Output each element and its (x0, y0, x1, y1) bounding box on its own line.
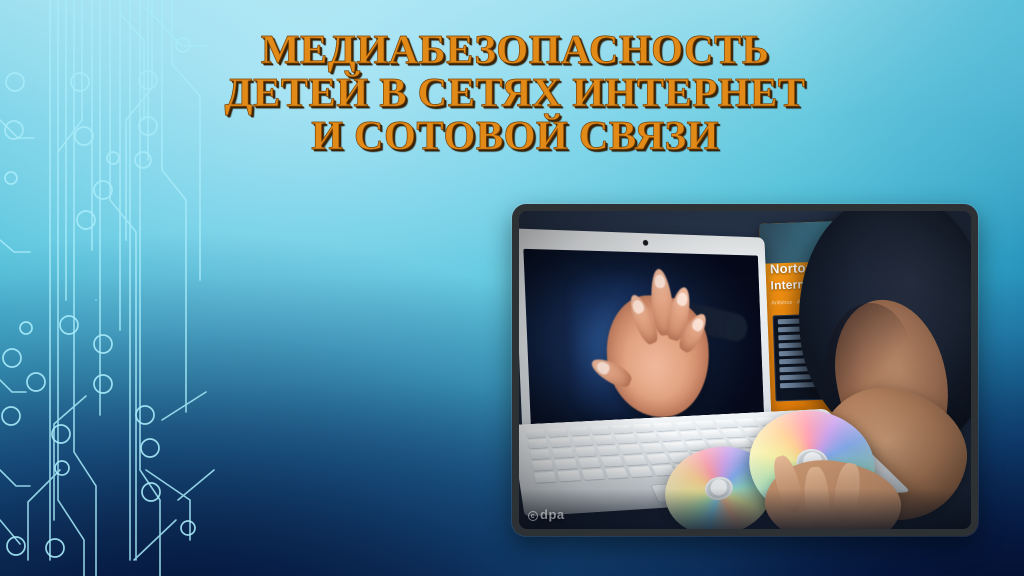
photo-image: Norton Internet Security 20 Antivirus · … (519, 211, 971, 529)
title-line-2: ДЕТЕЙ В СЕТЯХ ИНТЕРНЕТ (150, 71, 880, 114)
laptop-webcam (643, 240, 649, 246)
photo-watermark: cdpa (528, 507, 565, 522)
watermark-text: dpa (540, 507, 565, 522)
presentation-slide: МЕДИАБЕЗОПАСНОСТЬ ДЕТЕЙ В СЕТЯХ ИНТЕРНЕТ… (0, 0, 1024, 576)
title-line-1: МЕДИАБЕЗОПАСНОСТЬ (150, 28, 880, 71)
copyright-icon: c (528, 511, 538, 521)
slide-title: МЕДИАБЕЗОПАСНОСТЬ ДЕТЕЙ В СЕТЯХ ИНТЕРНЕТ… (150, 28, 880, 157)
photo-bottom-fade (519, 489, 971, 529)
title-line-3: И СОТОВОЙ СВЯЗИ (150, 114, 880, 157)
laptop-screen (523, 249, 764, 438)
photo-frame: Norton Internet Security 20 Antivirus · … (512, 204, 978, 536)
